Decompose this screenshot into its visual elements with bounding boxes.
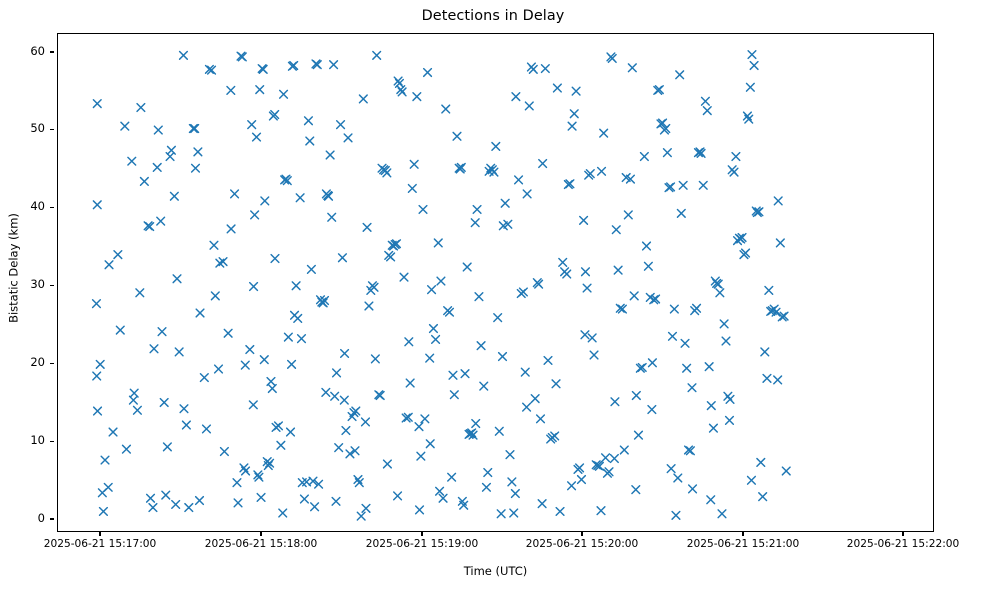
data-point — [384, 460, 392, 468]
data-point — [497, 510, 505, 518]
data-point — [365, 302, 373, 310]
data-point — [196, 309, 204, 317]
data-point — [105, 261, 113, 269]
data-point — [141, 178, 149, 186]
data-point — [677, 209, 685, 217]
data-point — [256, 86, 264, 94]
data-point — [383, 169, 391, 177]
data-point — [568, 122, 576, 130]
y-tick-label: 0 — [0, 511, 45, 525]
data-point — [308, 266, 316, 274]
data-point — [537, 415, 545, 423]
data-point — [170, 192, 178, 200]
data-point — [153, 164, 161, 172]
data-point — [277, 441, 285, 449]
data-point — [632, 486, 640, 494]
data-point — [157, 217, 165, 225]
data-point — [449, 371, 457, 379]
data-point — [419, 206, 427, 214]
data-point — [776, 239, 784, 247]
data-point — [413, 93, 421, 101]
data-point — [515, 176, 523, 184]
data-point — [559, 259, 567, 267]
data-point — [326, 151, 334, 159]
data-point — [506, 451, 514, 459]
data-point — [774, 197, 782, 205]
y-tick-mark — [50, 441, 54, 442]
x-tick-label: 2025-06-21 15:18:00 — [186, 538, 336, 550]
x-tick-mark — [902, 532, 903, 536]
data-point — [495, 427, 503, 435]
data-point — [590, 351, 598, 359]
data-point — [718, 510, 726, 518]
data-point — [296, 194, 304, 202]
data-point — [523, 403, 531, 411]
data-point — [538, 500, 546, 508]
y-tick-mark — [50, 285, 54, 286]
data-point — [322, 389, 330, 397]
data-point — [463, 263, 471, 271]
data-point — [612, 226, 620, 234]
data-point — [123, 445, 131, 453]
data-point — [268, 385, 276, 393]
data-point — [249, 401, 257, 409]
data-point — [648, 406, 656, 414]
data-point — [251, 211, 259, 219]
x-tick-label: 2025-06-21 15:21:00 — [668, 538, 818, 550]
data-point — [337, 121, 345, 129]
y-tick-label: 30 — [0, 277, 45, 291]
y-tick-mark — [50, 363, 54, 364]
data-point — [246, 346, 254, 354]
data-point — [192, 164, 200, 172]
data-point — [130, 396, 138, 404]
data-point — [670, 305, 678, 313]
data-point — [472, 420, 480, 428]
data-point — [285, 333, 293, 341]
data-point — [227, 225, 235, 233]
data-point — [475, 293, 483, 301]
data-point — [681, 339, 689, 347]
x-axis-label: Time (UTC) — [57, 564, 934, 578]
data-point — [726, 417, 734, 425]
data-point — [541, 65, 549, 73]
data-point — [645, 262, 653, 270]
data-point — [194, 148, 202, 156]
data-point — [359, 95, 367, 103]
marker-group — [93, 51, 790, 520]
data-point — [191, 125, 199, 133]
data-point — [705, 363, 713, 371]
data-point — [339, 254, 347, 262]
x-tick-mark — [99, 532, 100, 536]
data-point — [292, 282, 300, 290]
data-point — [224, 329, 232, 337]
data-point — [523, 190, 531, 198]
data-point — [227, 87, 235, 95]
data-point — [568, 482, 576, 490]
data-point — [200, 374, 208, 382]
data-point — [408, 185, 416, 193]
data-point — [175, 348, 183, 356]
data-point — [720, 320, 728, 328]
data-point — [588, 334, 596, 342]
x-tick-label: 2025-06-21 15:17:00 — [25, 538, 175, 550]
data-point — [688, 384, 696, 392]
data-point — [275, 422, 283, 430]
data-point — [189, 125, 197, 133]
data-point — [748, 51, 756, 59]
data-point — [683, 364, 691, 372]
data-point — [203, 425, 211, 433]
data-point — [664, 149, 672, 157]
data-point — [363, 223, 371, 231]
data-point — [570, 110, 578, 118]
plot-area — [57, 33, 934, 532]
data-point — [707, 496, 715, 504]
data-point — [185, 504, 193, 512]
data-point — [340, 396, 348, 404]
data-point — [624, 211, 632, 219]
data-point — [499, 353, 507, 361]
data-point — [149, 504, 157, 512]
data-point — [137, 104, 145, 112]
data-point — [415, 423, 423, 431]
data-point — [147, 494, 155, 502]
data-point — [94, 407, 102, 415]
data-point — [234, 499, 242, 507]
data-point — [510, 509, 518, 517]
data-point — [372, 355, 380, 363]
data-point — [583, 284, 591, 292]
data-point — [730, 168, 738, 176]
data-point — [582, 268, 590, 276]
data-point — [471, 219, 479, 227]
data-point — [342, 427, 350, 435]
data-point — [231, 190, 239, 198]
data-point — [453, 132, 461, 140]
data-point — [341, 350, 349, 358]
data-point — [732, 153, 740, 161]
data-point — [572, 87, 580, 95]
data-point — [114, 251, 122, 259]
data-point — [611, 455, 619, 463]
data-point — [480, 382, 488, 390]
data-point — [424, 69, 432, 77]
data-point — [750, 62, 758, 70]
data-point — [450, 391, 458, 399]
data-point — [563, 270, 571, 278]
data-point — [210, 241, 218, 249]
data-point — [635, 431, 643, 439]
data-point — [121, 122, 129, 130]
data-point — [667, 465, 675, 473]
data-point — [298, 335, 306, 343]
data-point — [100, 508, 108, 516]
data-point — [344, 134, 352, 142]
data-point — [271, 255, 279, 263]
data-point — [162, 491, 170, 499]
data-point — [400, 273, 408, 281]
data-point — [242, 467, 250, 475]
data-point — [357, 512, 365, 520]
x-tick-mark — [421, 532, 422, 536]
data-point — [763, 374, 771, 382]
data-point — [183, 421, 191, 429]
data-point — [332, 497, 340, 505]
data-point — [421, 415, 429, 423]
data-point — [747, 83, 755, 91]
data-point — [136, 289, 144, 297]
page-title: Detections in Delay — [0, 8, 986, 24]
data-point — [641, 153, 649, 161]
data-point — [406, 379, 414, 387]
data-point — [164, 443, 172, 451]
x-tick-mark — [260, 532, 261, 536]
data-point — [578, 476, 586, 484]
data-point — [311, 503, 319, 511]
data-point — [394, 492, 402, 500]
y-tick-mark — [50, 207, 54, 208]
data-point — [428, 286, 436, 294]
data-point — [180, 405, 188, 413]
data-point — [669, 332, 677, 340]
data-point — [432, 336, 440, 344]
data-point — [279, 509, 287, 517]
figure-canvas: Detections in Delay Bistatic Delay (km) … — [0, 0, 986, 590]
data-point — [774, 376, 782, 384]
data-point — [426, 440, 434, 448]
data-point — [511, 490, 519, 498]
data-point — [761, 348, 769, 356]
data-point — [702, 97, 710, 105]
data-point — [649, 359, 657, 367]
data-point — [288, 360, 296, 368]
data-point — [373, 51, 381, 59]
data-point — [726, 396, 734, 404]
data-point — [597, 507, 605, 515]
data-point — [101, 456, 109, 464]
data-point — [529, 65, 537, 73]
data-point — [434, 239, 442, 247]
data-point — [490, 168, 498, 176]
y-tick-label: 50 — [0, 121, 45, 135]
data-point — [600, 129, 608, 137]
data-point — [539, 160, 547, 168]
data-point — [93, 372, 101, 380]
data-point — [233, 479, 241, 487]
data-point — [172, 501, 180, 509]
data-point — [128, 157, 136, 165]
data-point — [93, 100, 101, 108]
y-tick-mark — [50, 518, 54, 519]
data-point — [180, 51, 188, 59]
data-point — [426, 354, 434, 362]
data-point — [154, 126, 162, 134]
x-tick-mark — [742, 532, 743, 536]
y-tick-label: 40 — [0, 199, 45, 213]
data-point — [521, 368, 529, 376]
data-point — [492, 143, 500, 151]
data-point — [96, 360, 104, 368]
data-point — [335, 444, 343, 452]
data-point — [93, 300, 101, 308]
x-tick-label: 2025-06-21 15:19:00 — [347, 538, 497, 550]
data-point — [219, 258, 227, 266]
data-point — [280, 90, 288, 98]
data-point — [552, 380, 560, 388]
data-point — [328, 213, 336, 221]
data-point — [598, 167, 606, 175]
data-point — [710, 424, 718, 432]
data-point — [748, 476, 756, 484]
data-point — [630, 292, 638, 300]
data-point — [477, 342, 485, 350]
data-point — [483, 483, 491, 491]
data-point — [294, 315, 302, 323]
scatter-series — [58, 34, 934, 532]
data-point — [248, 121, 256, 129]
data-point — [544, 357, 552, 365]
data-point — [168, 146, 176, 154]
x-tick-mark — [581, 532, 582, 536]
data-point — [551, 432, 559, 440]
data-point — [707, 402, 715, 410]
data-point — [150, 345, 158, 353]
data-point — [331, 392, 339, 400]
data-point — [484, 469, 492, 477]
data-point — [525, 102, 533, 110]
data-point — [215, 365, 223, 373]
data-point — [261, 197, 269, 205]
data-point — [689, 485, 697, 493]
data-point — [442, 105, 450, 113]
data-point — [614, 266, 622, 274]
data-point — [410, 160, 418, 168]
y-tick-label: 10 — [0, 433, 45, 447]
data-point — [554, 84, 562, 92]
data-point — [416, 506, 424, 514]
data-point — [672, 511, 680, 519]
x-tick-label: 2025-06-21 15:20:00 — [507, 538, 657, 550]
data-point — [325, 192, 333, 200]
data-point — [716, 289, 724, 297]
data-point — [782, 467, 790, 475]
data-point — [628, 64, 636, 72]
data-point — [765, 287, 773, 295]
y-tick-mark — [50, 51, 54, 52]
data-point — [674, 474, 682, 482]
data-point — [305, 117, 313, 125]
data-point — [93, 201, 101, 209]
data-point — [759, 493, 767, 501]
data-point — [241, 361, 249, 369]
data-point — [611, 398, 619, 406]
data-point — [196, 497, 204, 505]
data-point — [494, 314, 502, 322]
data-point — [581, 331, 589, 339]
data-point — [679, 181, 687, 189]
data-point — [211, 292, 219, 300]
y-tick-label: 20 — [0, 355, 45, 369]
data-point — [109, 428, 117, 436]
data-point — [405, 338, 413, 346]
data-point — [116, 326, 124, 334]
data-point — [508, 478, 516, 486]
data-point — [473, 206, 481, 214]
data-point — [362, 418, 370, 426]
data-point — [602, 454, 610, 462]
data-point — [620, 446, 628, 454]
data-point — [417, 452, 425, 460]
data-point — [448, 473, 456, 481]
data-point — [160, 399, 168, 407]
data-point — [437, 277, 445, 285]
data-point — [333, 369, 341, 377]
data-point — [221, 448, 229, 456]
data-point — [260, 356, 268, 364]
data-point — [257, 494, 265, 502]
data-point — [330, 61, 338, 69]
data-point — [722, 337, 730, 345]
data-point — [632, 392, 640, 400]
data-point — [253, 133, 261, 141]
data-point — [362, 504, 370, 512]
data-point — [461, 370, 469, 378]
data-point — [556, 508, 564, 516]
data-point — [699, 181, 707, 189]
data-point — [301, 495, 309, 503]
data-point — [643, 242, 651, 250]
x-tick-label: 2025-06-21 15:22:00 — [828, 538, 978, 550]
data-point — [757, 459, 765, 467]
data-point — [173, 275, 181, 283]
data-point — [580, 216, 588, 224]
data-point — [104, 483, 112, 491]
data-point — [287, 428, 295, 436]
data-point — [158, 328, 166, 336]
data-point — [512, 93, 520, 101]
data-point — [250, 283, 258, 291]
data-point — [703, 107, 711, 115]
data-point — [693, 304, 701, 312]
data-point — [676, 71, 684, 79]
y-tick-label: 60 — [0, 44, 45, 58]
data-point — [134, 406, 142, 414]
data-point — [531, 395, 539, 403]
data-point — [430, 325, 438, 333]
y-tick-mark — [50, 129, 54, 130]
data-point — [501, 199, 509, 207]
data-point — [306, 137, 314, 145]
